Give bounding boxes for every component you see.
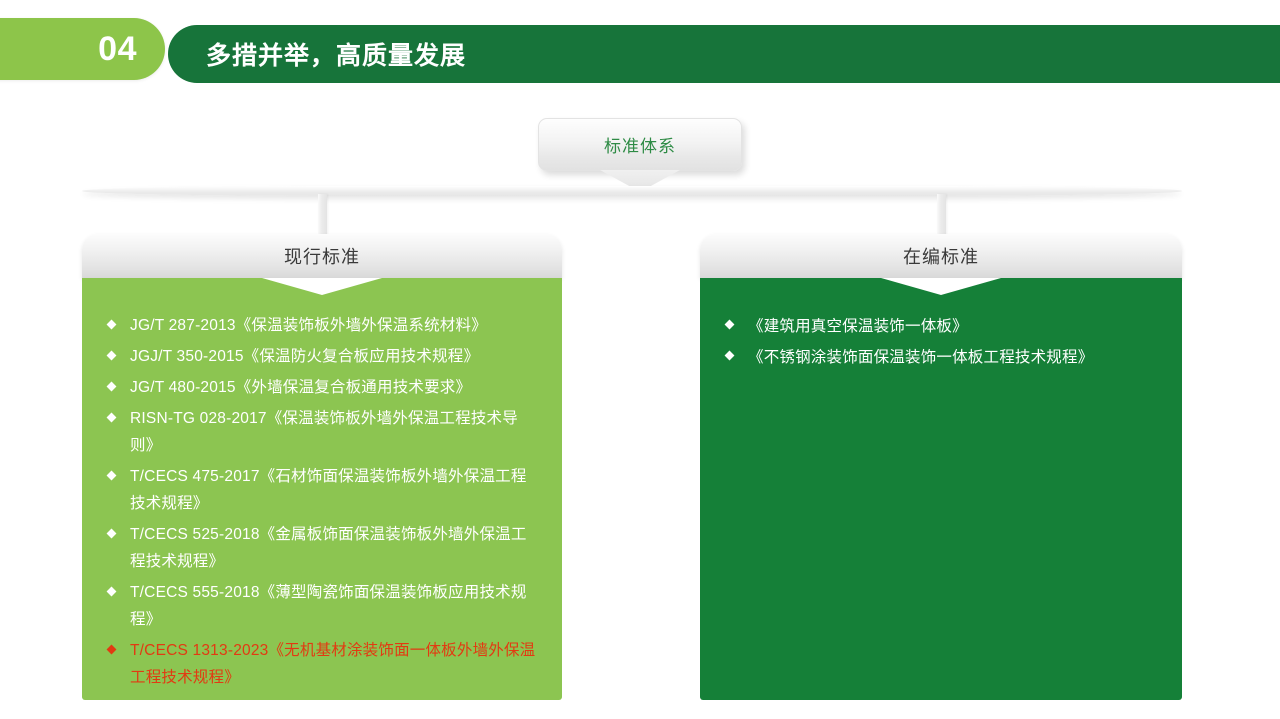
standard-text: RISN-TG 028-2017《保温装饰板外墙外保温工程技术导则》 <box>130 410 518 454</box>
list-item-highlighted[interactable]: T/CECS 1313-2023《无机基材涂装饰面一体板外墙外保温工程技术规程》 <box>104 637 540 691</box>
standard-text: T/CECS 555-2018《薄型陶瓷饰面保温装饰板应用技术规程》 <box>130 584 527 628</box>
panel-current-standards: 现行标准 JG/T 287-2013《保温装饰板外墙外保温系统材料》 JGJ/T… <box>82 234 562 700</box>
section-number-pill: 04 <box>0 18 165 80</box>
list-item[interactable]: T/CECS 555-2018《薄型陶瓷饰面保温装饰板应用技术规程》 <box>104 579 540 633</box>
slide-title: 多措并举，高质量发展 <box>206 36 466 72</box>
panel-drafting-title: 在编标准 <box>903 243 979 269</box>
standard-text: 《建筑用真空保温装饰一体板》 <box>748 318 968 335</box>
diagram-root-label: 标准体系 <box>604 132 676 157</box>
diamond-bullet-icon <box>107 382 117 392</box>
list-item[interactable]: JGJ/T 350-2015《保温防火复合板应用技术规程》 <box>104 343 540 370</box>
standard-text: JG/T 480-2015《外墙保温复合板通用技术要求》 <box>130 379 471 396</box>
diamond-bullet-icon <box>107 413 117 423</box>
list-item[interactable]: RISN-TG 028-2017《保温装饰板外墙外保温工程技术导则》 <box>104 405 540 459</box>
current-standards-list: JG/T 287-2013《保温装饰板外墙外保温系统材料》 JGJ/T 350-… <box>104 312 540 691</box>
panel-notch-icon <box>262 278 382 295</box>
diamond-bullet-icon <box>107 320 117 330</box>
panel-current-body: JG/T 287-2013《保温装饰板外墙外保温系统材料》 JGJ/T 350-… <box>82 278 562 700</box>
panel-drafting-standards: 在编标准 《建筑用真空保温装饰一体板》 《不锈钢涂装饰面保温装饰一体板工程技术规… <box>700 234 1182 700</box>
diamond-bullet-icon <box>107 529 117 539</box>
panel-current-header: 现行标准 <box>82 234 562 278</box>
panel-drafting-header: 在编标准 <box>700 234 1182 278</box>
standard-text: T/CECS 1313-2023《无机基材涂装饰面一体板外墙外保温工程技术规程》 <box>130 642 535 686</box>
panel-current-title: 现行标准 <box>284 243 360 269</box>
section-number: 04 <box>98 32 137 66</box>
diamond-bullet-icon <box>107 351 117 361</box>
diamond-bullet-icon <box>725 351 735 361</box>
panel-notch-icon <box>881 278 1001 295</box>
list-item[interactable]: JG/T 480-2015《外墙保温复合板通用技术要求》 <box>104 374 540 401</box>
standard-text: JGJ/T 350-2015《保温防火复合板应用技术规程》 <box>130 348 479 365</box>
diamond-bullet-icon <box>107 645 117 655</box>
list-item[interactable]: 《不锈钢涂装饰面保温装饰一体板工程技术规程》 <box>722 343 1160 372</box>
panel-drafting-body: 《建筑用真空保温装饰一体板》 《不锈钢涂装饰面保温装饰一体板工程技术规程》 <box>700 278 1182 700</box>
standard-text: T/CECS 475-2017《石材饰面保温装饰板外墙外保温工程技术规程》 <box>130 468 527 512</box>
slide-header: 04 多措并举，高质量发展 <box>0 0 1280 100</box>
list-item[interactable]: 《建筑用真空保温装饰一体板》 <box>722 312 1160 341</box>
standard-text: JG/T 287-2013《保温装饰板外墙外保温系统材料》 <box>130 317 487 334</box>
list-item[interactable]: T/CECS 475-2017《石材饰面保温装饰板外墙外保温工程技术规程》 <box>104 463 540 517</box>
standard-text: 《不锈钢涂装饰面保温装饰一体板工程技术规程》 <box>748 349 1093 366</box>
list-item[interactable]: JG/T 287-2013《保温装饰板外墙外保温系统材料》 <box>104 312 540 339</box>
list-item[interactable]: T/CECS 525-2018《金属板饰面保温装饰板外墙外保温工程技术规程》 <box>104 521 540 575</box>
standard-text: T/CECS 525-2018《金属板饰面保温装饰板外墙外保温工程技术规程》 <box>130 526 527 570</box>
diamond-bullet-icon <box>107 587 117 597</box>
diagram-root-node: 标准体系 <box>538 118 742 171</box>
diamond-bullet-icon <box>725 320 735 330</box>
drafting-standards-list: 《建筑用真空保温装饰一体板》 《不锈钢涂装饰面保温装饰一体板工程技术规程》 <box>722 312 1160 372</box>
diagram-horizontal-connector <box>82 186 1182 196</box>
diamond-bullet-icon <box>107 471 117 481</box>
slide-title-banner: 多措并举，高质量发展 <box>168 25 1280 83</box>
